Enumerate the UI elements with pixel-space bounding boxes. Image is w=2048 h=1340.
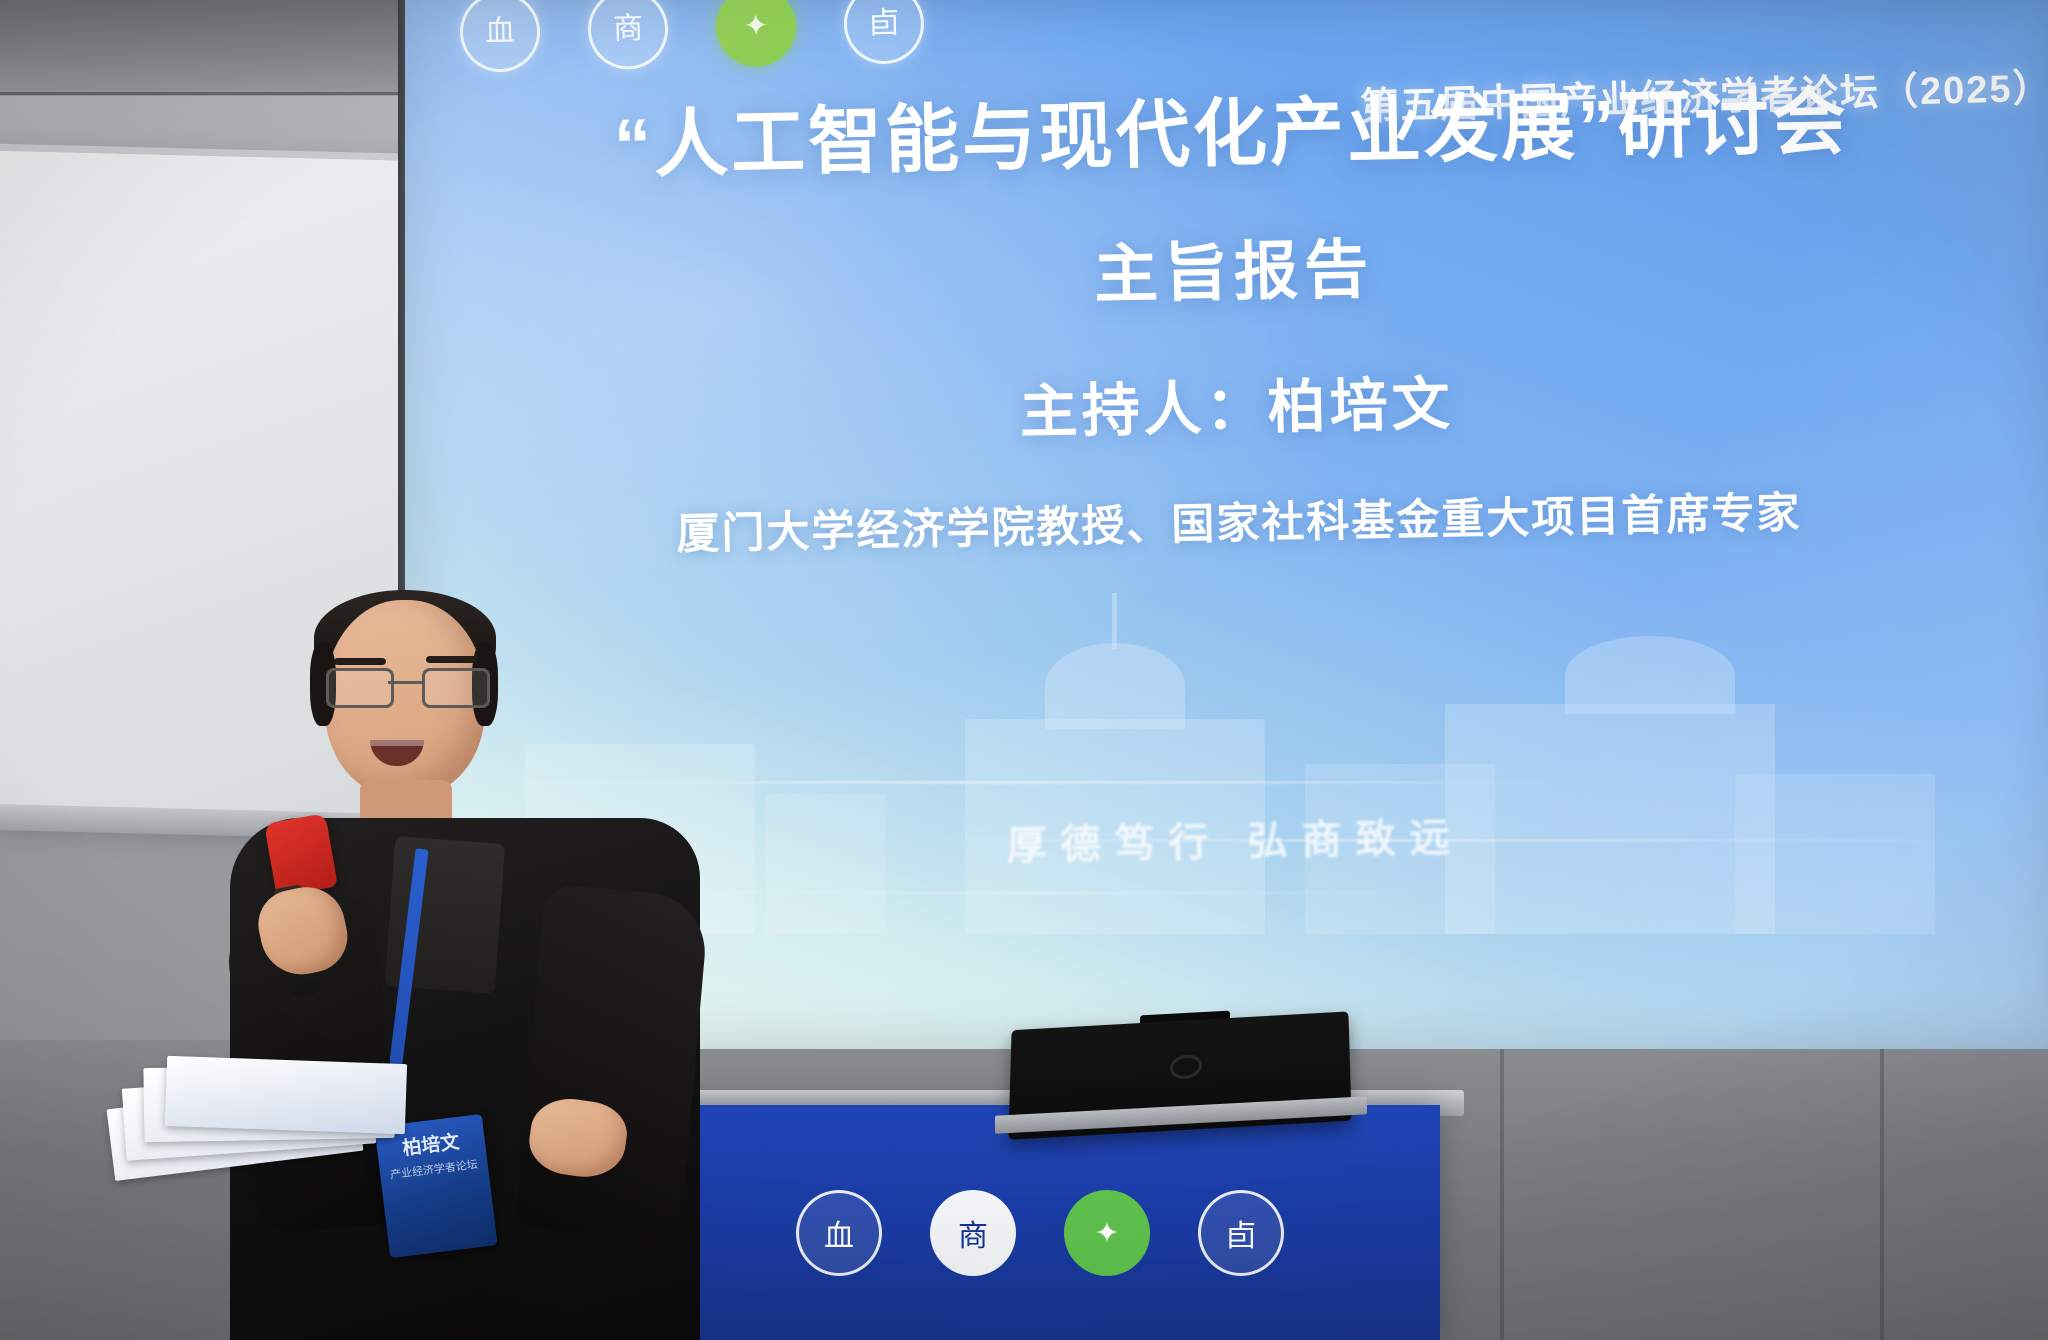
podium-university-seal-glyph: 血 — [824, 1211, 854, 1255]
university-seal-icon: 血 — [459, 0, 541, 73]
slide-title-block: “人工智能与现代化产业发展”研讨会 主旨报告 主持人：柏培文 厦门大学经济学院教… — [405, 74, 2048, 567]
podium-business-seal-icon: 商 — [930, 1190, 1016, 1276]
wall-vertical-seam — [1500, 1046, 1504, 1340]
podium-fourth-seal-glyph: 卣 — [1226, 1211, 1256, 1255]
speaker-brow-right — [426, 656, 478, 663]
fourth-university-seal-icon: 卣 — [843, 0, 925, 65]
conference-photo: 血 商 ✦ 卣 第五届中国产业经济学者论坛（2025） “人工智能与现代化产业发… — [0, 0, 2048, 1340]
green-institute-seal-glyph: ✦ — [743, 11, 769, 42]
wall-vertical-seam-2 — [1880, 1046, 1884, 1340]
podium-green-seal-icon: ✦ — [1064, 1190, 1150, 1276]
slide-host-line: 主持人：柏培文 — [406, 345, 2048, 461]
glasses-bridge — [388, 681, 422, 684]
slide-affiliation-line: 厦门大学经济学院教授、国家社科基金重大项目首席专家 — [408, 473, 2048, 567]
podium-logo-row: 血 商 ✦ 卣 — [640, 1190, 1440, 1276]
slide-session-title: 主旨报告 — [405, 205, 2048, 329]
podium: 血 商 ✦ 卣 — [640, 1105, 1440, 1340]
business-school-seal-glyph: 商 — [613, 14, 644, 45]
printed-documents — [110, 1060, 440, 1190]
podium-business-seal-glyph: 商 — [958, 1211, 988, 1255]
green-institute-seal-icon: ✦ — [715, 0, 797, 67]
podium-fourth-seal-icon: 卣 — [1198, 1190, 1284, 1276]
university-seal-glyph: 血 — [485, 17, 516, 48]
speaker-arm-right — [515, 883, 709, 1241]
glasses-lens-left — [326, 668, 394, 708]
business-school-seal-icon: 商 — [587, 0, 669, 70]
speaker: 柏培文 产业经济学者论坛 — [230, 600, 700, 1340]
laptop-logo-icon — [1170, 1053, 1202, 1080]
slide-main-title: “人工智能与现代化产业发展”研讨会 — [405, 74, 2048, 193]
speaker-glasses — [326, 668, 484, 702]
podium-green-seal-glyph: ✦ — [1094, 1216, 1119, 1251]
glasses-lens-right — [422, 668, 490, 708]
slide-logo-row: 血 商 ✦ 卣 — [459, 0, 925, 73]
handheld-microphone-head — [264, 813, 338, 897]
speaker-brow-left — [334, 658, 386, 665]
fourth-university-seal-glyph: 卣 — [869, 9, 900, 40]
podium-university-seal-icon: 血 — [796, 1190, 882, 1276]
